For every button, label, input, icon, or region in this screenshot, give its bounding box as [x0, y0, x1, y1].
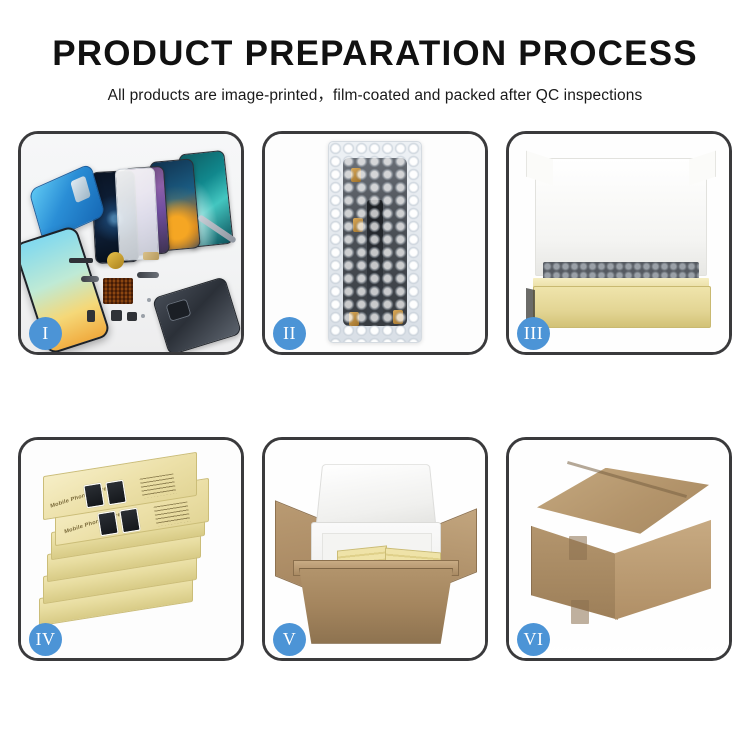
- process-step-6[interactable]: VI: [506, 437, 732, 661]
- shield-grid-part: [103, 278, 133, 304]
- box-label-phone-front-2: [119, 507, 140, 533]
- step-badge-3: III: [517, 317, 550, 350]
- box-stack: Mobile Phone Spare Parts Mobile Phone Sp…: [37, 460, 233, 648]
- tempered-glass-film: [115, 167, 160, 261]
- screw-3: [141, 314, 145, 318]
- screw-1: [147, 298, 151, 302]
- foam-box-lid: [315, 464, 436, 527]
- antenna-strip: [69, 258, 93, 263]
- step-badge-2: II: [273, 317, 306, 350]
- box-label-phone-top-2: [105, 479, 126, 505]
- speaker-part: [107, 252, 124, 269]
- flex-cable-1: [81, 276, 99, 282]
- carton-tape-upper: [569, 536, 587, 560]
- sim-tray: [87, 310, 95, 322]
- page-subtitle: All products are image-printed，film-coat…: [0, 83, 750, 105]
- process-step-1[interactable]: I: [18, 131, 244, 355]
- step-badge-4: IV: [29, 623, 62, 656]
- process-step-grid: I II: [0, 131, 750, 661]
- process-step-4[interactable]: Mobile Phone Spare Parts Mobile Phone Sp…: [18, 437, 244, 661]
- box-label-phone-front-1: [97, 510, 118, 536]
- carton-right-face: [615, 516, 711, 620]
- step-badge-5: V: [273, 623, 306, 656]
- step-badge-6: VI: [517, 623, 550, 656]
- process-step-5[interactable]: V: [262, 437, 488, 661]
- kraft-box-base: [533, 286, 711, 328]
- vibration-motor: [127, 312, 137, 321]
- bubble-texture-overlay: [329, 142, 421, 342]
- page-title: PRODUCT PREPARATION PROCESS: [0, 36, 750, 73]
- process-step-3[interactable]: III: [506, 131, 732, 355]
- bubble-wrap-pack: [328, 141, 422, 343]
- carton-body: [299, 568, 453, 644]
- box-lid-white: [535, 158, 707, 276]
- step-badge-1: I: [29, 317, 62, 350]
- back-housing: [152, 276, 241, 352]
- carton-tape-lower: [571, 600, 589, 624]
- page-header: PRODUCT PREPARATION PROCESS All products…: [0, 0, 750, 105]
- box-label-phone-top-1: [83, 482, 104, 508]
- connector-tan: [143, 252, 159, 260]
- flex-cable-2: [137, 272, 159, 278]
- camera-module: [111, 310, 122, 321]
- process-step-2[interactable]: II: [262, 131, 488, 355]
